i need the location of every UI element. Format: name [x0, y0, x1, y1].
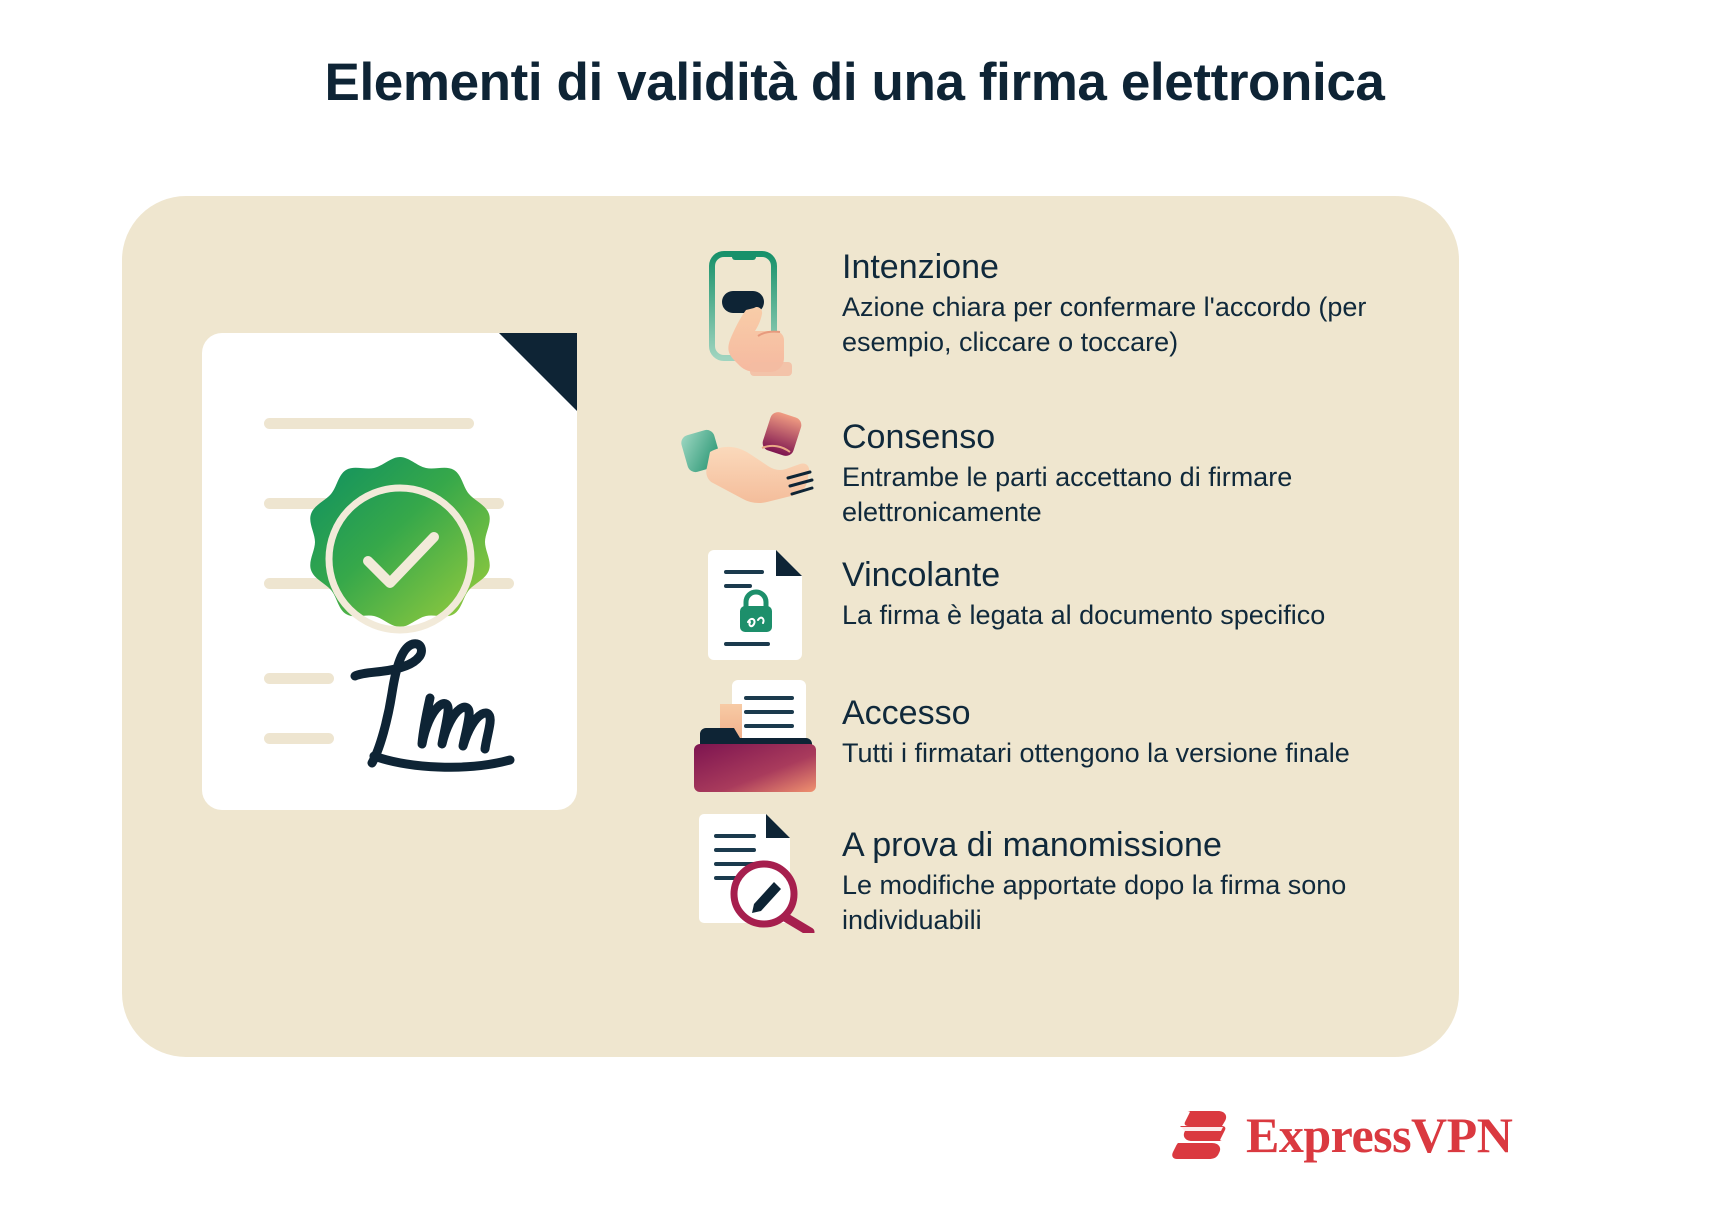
list-item-description: Tutti i firmatari ottengono la versione …: [842, 736, 1427, 772]
list-item-description: Le modifiche apportate dopo la firma son…: [842, 868, 1427, 939]
list-item-title: Vincolante: [842, 556, 1427, 595]
document-text-line: [264, 733, 334, 744]
folder-documents-icon: [690, 674, 820, 799]
expressvpn-e-mark-icon: [1168, 1103, 1232, 1167]
list-item-title: Intenzione: [842, 248, 1427, 287]
document-magnifier-edit-icon: [696, 808, 821, 933]
list-item-text: A prova di manomissione Le modifiche app…: [842, 826, 1427, 939]
page-title: Elementi di validità di una firma elettr…: [0, 52, 1709, 113]
signed-document-illustration: [202, 333, 577, 810]
list-item-text: Consenso Entrambe le parti accettano di …: [842, 418, 1427, 531]
list-item-text: Intenzione Azione chiara per confermare …: [842, 248, 1427, 361]
page-fold-corner-icon: [499, 333, 577, 411]
verified-seal-check-icon: [294, 453, 506, 665]
list-item-title: A prova di manomissione: [842, 826, 1427, 865]
list-item-description: Azione chiara per confermare l'accordo (…: [842, 290, 1427, 361]
list-item-description: Entrambe le parti accettano di firmare e…: [842, 460, 1427, 531]
list-item-title: Consenso: [842, 418, 1427, 457]
list-item-title: Accesso: [842, 694, 1427, 733]
document-text-line: [264, 673, 334, 684]
list-item-text: Accesso Tutti i firmatari ottengono la v…: [842, 694, 1427, 771]
list-item-description: La firma è legata al documento specifico: [842, 598, 1427, 634]
document-lock-signature-icon: [706, 542, 811, 662]
handshake-icon: [680, 408, 845, 513]
list-item-text: Vincolante La firma è legata al document…: [842, 556, 1427, 633]
expressvpn-logo: ExpressVPN: [1168, 1103, 1512, 1167]
handwritten-signature-icon: [350, 638, 535, 773]
expressvpn-wordmark: ExpressVPN: [1246, 1110, 1512, 1160]
phone-tap-finger-icon: [700, 244, 820, 384]
document-text-line: [264, 418, 474, 429]
infographic-page: Elementi di validità di una firma elettr…: [0, 0, 1709, 1217]
